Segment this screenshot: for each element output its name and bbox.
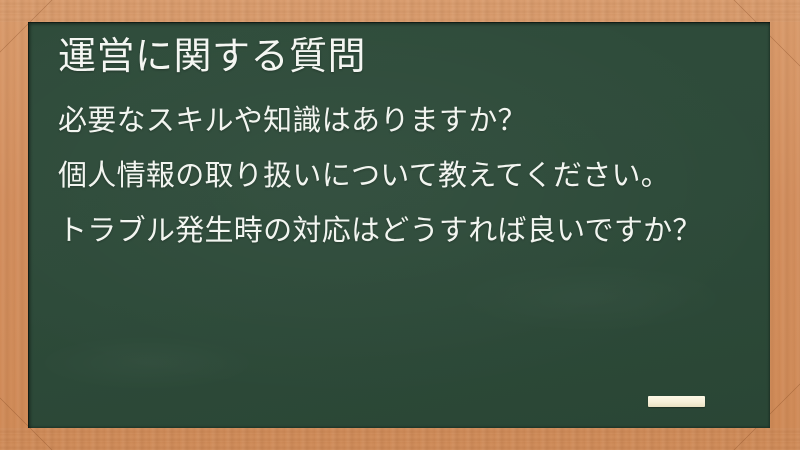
frame-top-rail-grain	[0, 0, 800, 22]
frame-bottom-rail-grain	[0, 428, 800, 450]
blackboard-slide: 運営に関する質問 必要なスキルや知識はありますか？ 個人情報の取り扱いについて教…	[0, 0, 800, 450]
question-item-3: トラブル発生時の対応はどうすれば良いですか？	[58, 204, 758, 259]
chalkboard-surface: 運営に関する質問 必要なスキルや知識はありますか？ 個人情報の取り扱いについて教…	[28, 22, 770, 428]
question-item-2: 個人情報の取り扱いについて教えてください。	[58, 149, 758, 204]
question-item-1: 必要なスキルや知識はありますか？	[58, 94, 758, 149]
chalk-stick-icon	[648, 396, 705, 407]
question-list: 必要なスキルや知識はありますか？ 個人情報の取り扱いについて教えてください。 ト…	[58, 94, 758, 259]
slide-title: 運営に関する質問	[58, 36, 366, 79]
